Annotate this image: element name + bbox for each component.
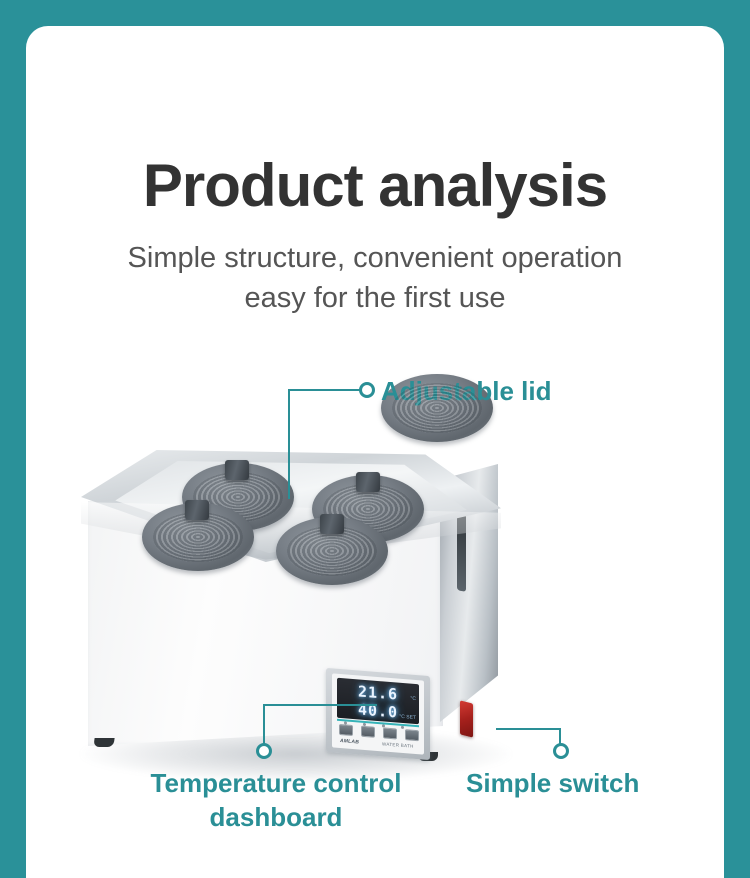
callout-line-temp-horizontal xyxy=(263,704,377,706)
control-panel-face: 21.6 40.0 °C °C SET AMLAB WATER BATH xyxy=(332,673,424,754)
callout-label-adjustable-lid: Adjustable lid xyxy=(381,374,493,442)
lid-knob[interactable] xyxy=(185,500,209,520)
model-label: WATER BATH xyxy=(382,741,414,748)
callout-line-switch-horizontal xyxy=(496,728,561,730)
callout-label-simple-switch: Simple switch xyxy=(466,766,639,800)
brand-logo: AMLAB xyxy=(340,738,359,746)
lid-knob[interactable] xyxy=(356,472,380,492)
callout-line-temp-vertical xyxy=(263,704,265,745)
callout-marker-switch xyxy=(553,743,569,759)
lid-knob[interactable] xyxy=(225,460,249,480)
content-card: Product analysis Simple structure, conve… xyxy=(26,26,724,878)
panel-button[interactable] xyxy=(361,726,375,738)
panel-button[interactable] xyxy=(339,724,353,736)
callout-marker-lid xyxy=(359,382,375,398)
lid-knob[interactable] xyxy=(320,514,344,534)
panel-button[interactable] xyxy=(383,727,397,739)
panel-button[interactable] xyxy=(405,729,419,741)
unit-label-bottom: °C SET xyxy=(399,714,416,721)
power-switch[interactable] xyxy=(460,700,473,737)
callout-line-lid-horizontal xyxy=(288,389,360,391)
control-panel[interactable]: 21.6 40.0 °C °C SET AMLAB WATER BATH xyxy=(326,668,430,760)
callout-line-lid-vertical xyxy=(288,389,290,499)
callout-label-temperature-control: Temperature control dashboard xyxy=(146,766,406,834)
led-display: 21.6 40.0 °C °C SET xyxy=(337,678,419,724)
unit-label-top: °C xyxy=(410,696,416,702)
callout-marker-temperature xyxy=(256,743,272,759)
product-illustration: 21.6 40.0 °C °C SET AMLAB WATER BATH xyxy=(26,26,724,878)
